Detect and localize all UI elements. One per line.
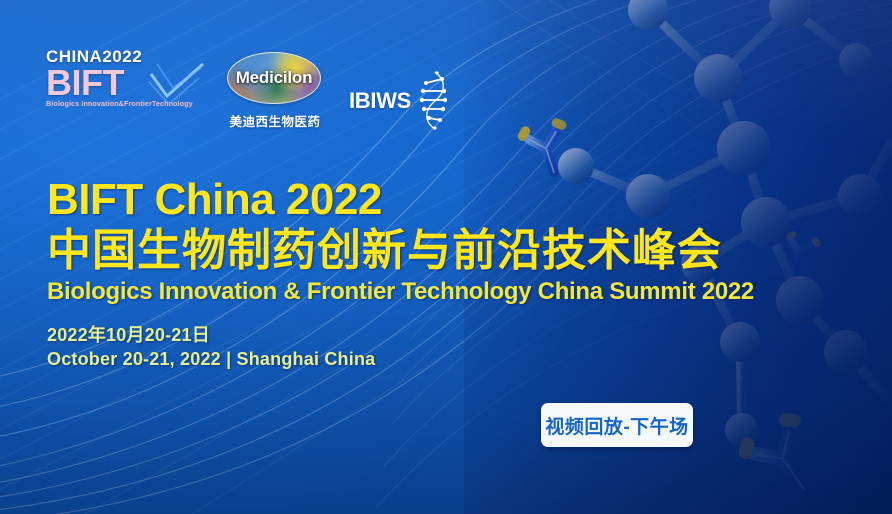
oval-photo-badge-icon: Medicilon <box>227 52 321 104</box>
event-subtitle-en: Biologics Innovation & Frontier Technolo… <box>47 279 754 305</box>
event-dates: 2022年10月20-21日 October 20-21, 2022 | Sha… <box>47 323 754 372</box>
event-date-en: October 20-21, 2022 | Shanghai China <box>47 347 754 371</box>
video-replay-button-label: 视频回放-下午场 <box>545 412 688 439</box>
ibiws-logo: IBIWS <box>349 70 449 132</box>
bift-logo: CHINA2022 BIFT Biologics Innovation&Fron… <box>46 48 201 107</box>
medicilon-wordmark: Medicilon <box>228 68 320 88</box>
event-banner: CHINA2022 BIFT Biologics Innovation&Fron… <box>0 0 892 514</box>
sponsor-logo-row: CHINA2022 BIFT Biologics Innovation&Fron… <box>46 48 449 132</box>
event-title-en: BIFT China 2022 <box>47 178 754 222</box>
headline-block: BIFT China 2022 中国生物制药创新与前沿技术峰会 Biologic… <box>47 178 754 372</box>
bift-tagline: Biologics Innovation&FrontierTechnology <box>46 100 201 107</box>
ibiws-wordmark: IBIWS <box>349 88 411 114</box>
event-title-cn: 中国生物制药创新与前沿技术峰会 <box>47 227 754 275</box>
bift-acronym: BIFT <box>46 66 201 99</box>
medicilon-chinese-name: 美迪西生物医药 <box>227 111 323 130</box>
video-replay-button[interactable]: 视频回放-下午场 <box>541 403 693 447</box>
medicilon-logo: Medicilon 美迪西生物医药 <box>227 52 323 130</box>
event-date-cn: 2022年10月20-21日 <box>47 323 754 347</box>
dna-helix-icon <box>415 70 449 132</box>
